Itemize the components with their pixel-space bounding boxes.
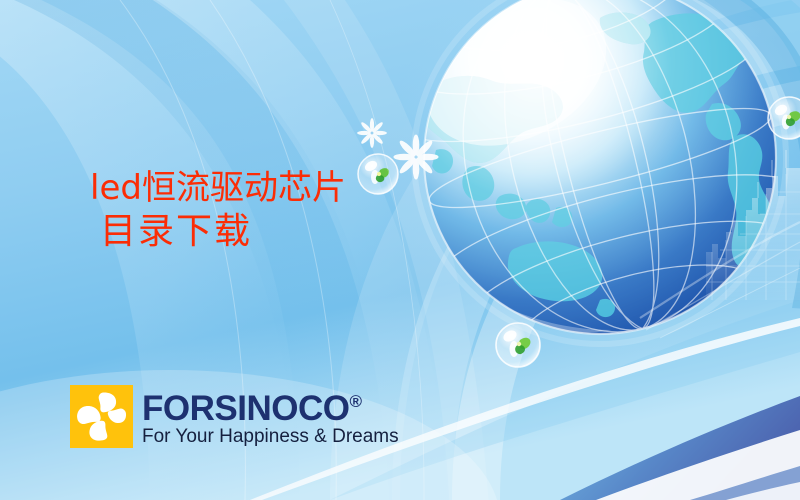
registered-trademark-symbol: ® (349, 392, 362, 411)
four-petal-pinwheel-icon (70, 385, 133, 448)
headline-line-1: led恒流驱动芯片 (90, 168, 346, 208)
brand-name-text: FORSINOCO (142, 389, 349, 428)
brand-name: FORSINOCO® (142, 385, 399, 426)
brand-tagline: For Your Happiness & Dreams (142, 427, 399, 447)
logo-wordmark: FORSINOCO® For Your Happiness & Dreams (142, 385, 399, 447)
headline-text: led恒流驱动芯片 目录下载 (90, 168, 346, 254)
headline-line-2: 目录下载 (100, 211, 346, 253)
company-logo: FORSINOCO® For Your Happiness & Dreams (70, 385, 399, 448)
promo-banner: led恒流驱动芯片 目录下载 FORSINOCO® For Your Happ (0, 0, 800, 500)
